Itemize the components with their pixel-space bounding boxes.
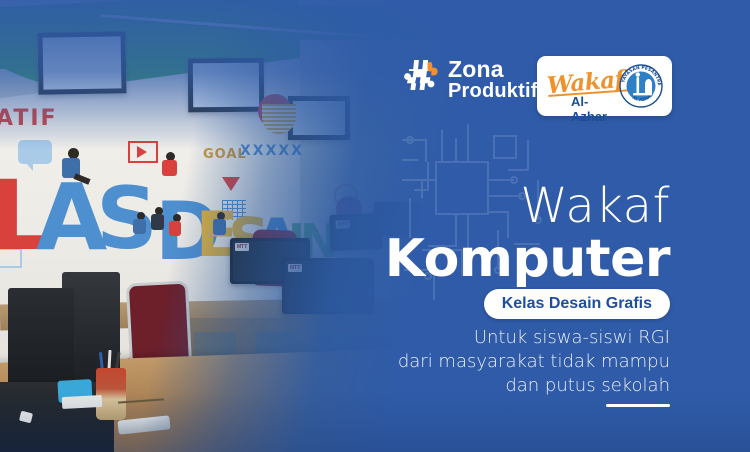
subtitle-line-1: Untuk siswa-siswi RGI (398, 326, 670, 350)
subtitle-line-3: dan putus sekolah (398, 374, 670, 398)
blue-bottom-gradient (0, 392, 750, 452)
headline-block: Wakaf Komputer (385, 182, 670, 287)
bottom-divider (606, 404, 670, 407)
alazhar-text: Al-Azhar (571, 94, 614, 124)
zona-line-1: Zona (448, 58, 538, 81)
zona-produktif-wordmark: Zona Produktif (448, 58, 538, 102)
subtitle-block: Untuk siswa-siswi RGI dari masyarakat ti… (398, 326, 670, 398)
headline-bold: Komputer (385, 232, 670, 287)
wakaf-alazhar-logo: Wakaf Al-Azhar YAYASAN PESANTREN ISLAM A… (537, 56, 672, 116)
subtitle-line-2: dari masyarakat tidak mampu (398, 350, 670, 374)
wakaf-komputer-banner: ATIF L A S D E S A I N INOVATIF GOAL XXX… (0, 0, 750, 452)
zona-produktif-logo: Zona Produktif (400, 58, 538, 102)
hash-puzzle-icon (400, 60, 440, 100)
al-azhar-seal-icon: YAYASAN PESANTREN ISLAM AL AZHAR (618, 63, 664, 109)
program-badge: Kelas Desain Grafis (484, 289, 670, 319)
zona-line-2: Produktif (448, 81, 538, 101)
headline-light: Wakaf (385, 182, 670, 230)
wakaf-wordmark: Wakaf Al-Azhar (545, 61, 614, 111)
